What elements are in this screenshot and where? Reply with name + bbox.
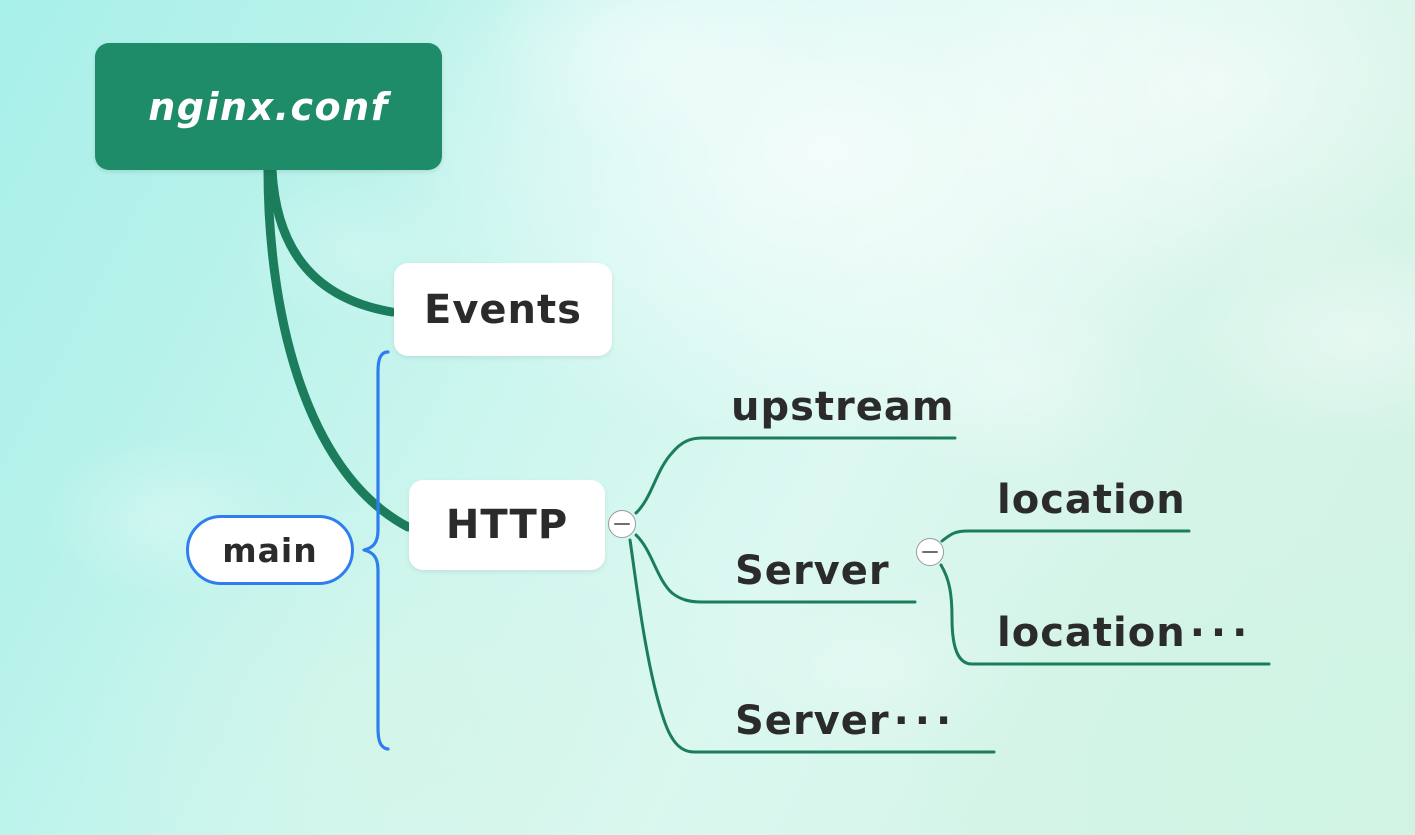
minus-icon: [614, 523, 630, 525]
node-nginx-conf-label: nginx.conf: [148, 85, 389, 129]
node-upstream[interactable]: upstream: [731, 372, 991, 432]
node-main-label: main: [222, 531, 317, 570]
node-upstream-label: upstream: [731, 384, 955, 430]
node-events[interactable]: Events: [394, 263, 612, 356]
node-server-more-ellipsis: ···: [894, 698, 958, 744]
node-location-1-label: location: [997, 477, 1186, 523]
minus-icon: [922, 551, 938, 553]
node-main[interactable]: main: [186, 515, 354, 585]
node-location-1[interactable]: location: [997, 465, 1247, 525]
http-collapse-toggle-icon[interactable]: [608, 510, 636, 538]
node-server[interactable]: Server: [735, 536, 925, 596]
edge-server-to-location-1: [942, 531, 1189, 541]
node-server-more-label: Server: [735, 698, 890, 744]
node-http[interactable]: HTTP: [409, 480, 605, 570]
node-nginx-conf[interactable]: nginx.conf: [95, 43, 442, 170]
bracket-main-group: [364, 352, 388, 749]
node-http-label: HTTP: [446, 502, 568, 548]
edge-http-to-upstream: [636, 438, 955, 513]
node-location-2-label: location: [997, 610, 1186, 656]
edge-root-to-http: [268, 170, 408, 527]
node-server-label: Server: [735, 548, 890, 594]
node-server-more[interactable]: Server ···: [735, 686, 1035, 746]
node-location-2[interactable]: location ···: [997, 598, 1317, 658]
edge-root-to-events: [272, 170, 392, 312]
node-events-label: Events: [424, 287, 582, 333]
mindmap-canvas: nginx.conf main Events HTTP upstream Ser…: [0, 0, 1415, 835]
node-location-2-ellipsis: ···: [1190, 610, 1254, 656]
server-collapse-toggle-icon[interactable]: [916, 538, 944, 566]
